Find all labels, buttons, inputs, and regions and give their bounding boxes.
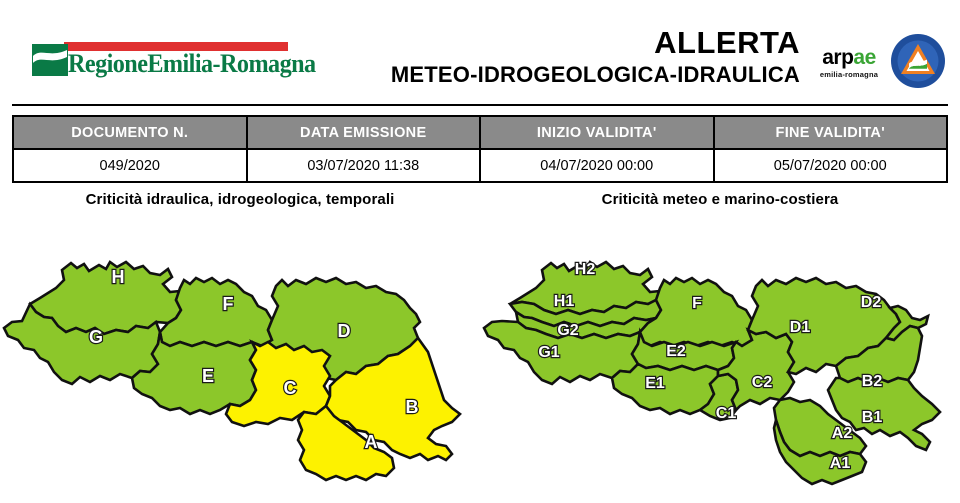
cell-inizio-validita: 04/07/2020 00:00 — [480, 149, 714, 182]
zone-label-G1: G1 — [538, 344, 559, 361]
zone-label-D1: D1 — [790, 319, 811, 336]
zone-label-H1: H1 — [554, 293, 575, 310]
table-header-row: DOCUMENTO N. DATA EMISSIONE INIZIO VALID… — [13, 116, 947, 149]
cell-fine-validita: 05/07/2020 00:00 — [714, 149, 948, 182]
map-criticita-meteo-marino[interactable]: H2 H1 G2 G1 F E2 E1 C1 C2 D1 D2 B2 B1 A2… — [480, 222, 960, 503]
map-right-subtitle: Criticità meteo e marino-costiera — [480, 191, 960, 208]
map-right-svg[interactable]: H2 H1 G2 G1 F E2 E1 C1 C2 D1 D2 B2 B1 A2… — [480, 222, 960, 503]
zone-label-G: G — [89, 327, 103, 347]
col-header-inizio-validita: INIZIO VALIDITA' — [480, 116, 714, 149]
page-header: RegioneEmilia-Romagna ALLERTA METEO-IDRO… — [0, 0, 960, 104]
table-row: 049/2020 03/07/2020 11:38 04/07/2020 00:… — [13, 149, 947, 182]
wave-square-icon — [32, 44, 68, 76]
zone-label-B1: B1 — [862, 409, 883, 426]
zone-label-C: C — [284, 378, 297, 398]
zone-label-F: F — [223, 294, 234, 314]
arpae-word-green: ae — [853, 46, 875, 69]
zone-label-H2: H2 — [575, 261, 596, 278]
zone-label-E1: E1 — [645, 375, 665, 392]
zone-label-D2: D2 — [861, 294, 882, 311]
zone-label-B2: B2 — [862, 373, 883, 390]
zone-label-C2: C2 — [752, 374, 773, 391]
cell-documento: 049/2020 — [13, 149, 247, 182]
page-title-line1: ALLERTA — [330, 26, 800, 60]
zone-label-E2: E2 — [666, 343, 686, 360]
zone-label-H: H — [112, 267, 125, 287]
zone-label-A: A — [365, 432, 378, 452]
zone-label-F: F — [692, 295, 702, 312]
arpae-logo: arpae emilia-romagna — [812, 47, 886, 79]
regione-emilia-romagna-logo: RegioneEmilia-Romagna — [16, 42, 288, 84]
map-criticita-idraulica[interactable]: H G F E D C B A — [0, 222, 480, 503]
bulletin-info-table: DOCUMENTO N. DATA EMISSIONE INIZIO VALID… — [12, 115, 948, 183]
zone-label-A1: A1 — [830, 455, 851, 472]
col-header-data-emissione: DATA EMISSIONE — [247, 116, 481, 149]
zone-label-E: E — [202, 366, 214, 386]
map-left-subtitle: Criticità idraulica, idrogeologica, temp… — [0, 191, 480, 208]
zone-label-A2: A2 — [832, 425, 853, 442]
arpae-wordmark: arpae — [812, 47, 886, 68]
zone-E1[interactable] — [612, 364, 718, 414]
page-title: ALLERTA METEO-IDROGEOLOGICA-IDRAULICA — [330, 26, 800, 88]
allerta-bulletin-page: RegioneEmilia-Romagna ALLERTA METEO-IDRO… — [0, 0, 960, 503]
zone-label-G2: G2 — [557, 322, 578, 339]
arpae-word-dark: arp — [822, 46, 853, 69]
zone-label-C1: C1 — [716, 405, 737, 422]
logo-wordmark: RegioneEmilia-Romagna — [68, 49, 316, 79]
header-divider — [12, 104, 948, 106]
arpae-subtitle: emilia-romagna — [812, 70, 886, 79]
map-left-svg[interactable]: H G F E D C B A — [0, 222, 480, 503]
col-header-documento: DOCUMENTO N. — [13, 116, 247, 149]
wave-square-icon-svg — [32, 44, 68, 76]
protezione-civile-emblem-icon — [890, 33, 946, 89]
page-title-line2: METEO-IDROGEOLOGICA-IDRAULICA — [330, 62, 800, 88]
zone-label-B: B — [406, 397, 419, 417]
cell-data-emissione: 03/07/2020 11:38 — [247, 149, 481, 182]
zone-label-D: D — [338, 321, 351, 341]
col-header-fine-validita: FINE VALIDITA' — [714, 116, 948, 149]
